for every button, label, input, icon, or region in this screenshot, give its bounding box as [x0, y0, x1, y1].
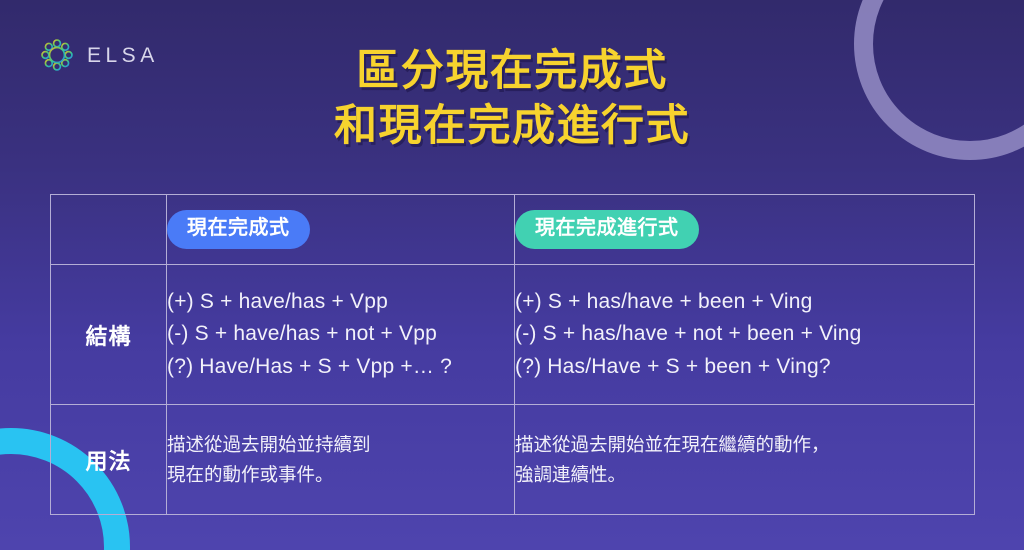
brand-wordmark: ELSA: [87, 45, 159, 66]
elsa-flower-logo-icon: [40, 38, 74, 72]
table-header-row: 現在完成式 現在完成進行式: [51, 195, 975, 265]
cell-structure-present-perfect: (+) S + have/has + Vpp (-) S + have/has …: [167, 265, 515, 405]
cell-usage-present-perfect-continuous: 描述從過去開始並在現在繼續的動作， 強調連續性。: [515, 405, 975, 515]
brand-logo: ELSA: [40, 38, 159, 72]
cell-usage-present-perfect: 描述從過去開始並持續到 現在的動作或事件。: [167, 405, 515, 515]
header-cell-present-perfect: 現在完成式: [167, 195, 515, 265]
cell-text: 描述從過去開始並在現在繼續的動作， 強調連續性。: [515, 430, 974, 490]
pill-present-perfect: 現在完成式: [167, 210, 310, 249]
title-line-2: 和現在完成進行式: [0, 99, 1024, 154]
table-corner-cell: [51, 195, 167, 265]
cell-structure-present-perfect-continuous: (+) S + has/have + been + Ving (-) S + h…: [515, 265, 975, 405]
table-row: 結構 (+) S + have/has + Vpp (-) S + have/h…: [51, 265, 975, 405]
cell-text: (+) S + have/has + Vpp (-) S + have/has …: [167, 286, 514, 384]
row-label-structure: 結構: [51, 265, 167, 405]
slide-canvas: ELSA 區分現在完成式 和現在完成進行式 現在完成式 現在完成進行式 結構: [0, 0, 1024, 550]
row-label-usage: 用法: [51, 405, 167, 515]
pill-present-perfect-continuous: 現在完成進行式: [515, 210, 699, 249]
header-cell-present-perfect-continuous: 現在完成進行式: [515, 195, 975, 265]
comparison-table: 現在完成式 現在完成進行式 結構 (+) S + have/has + Vpp …: [50, 194, 975, 515]
table-row: 用法 描述從過去開始並持續到 現在的動作或事件。 描述從過去開始並在現在繼續的動…: [51, 405, 975, 515]
cell-text: 描述從過去開始並持續到 現在的動作或事件。: [167, 430, 514, 490]
cell-text: (+) S + has/have + been + Ving (-) S + h…: [515, 286, 974, 384]
